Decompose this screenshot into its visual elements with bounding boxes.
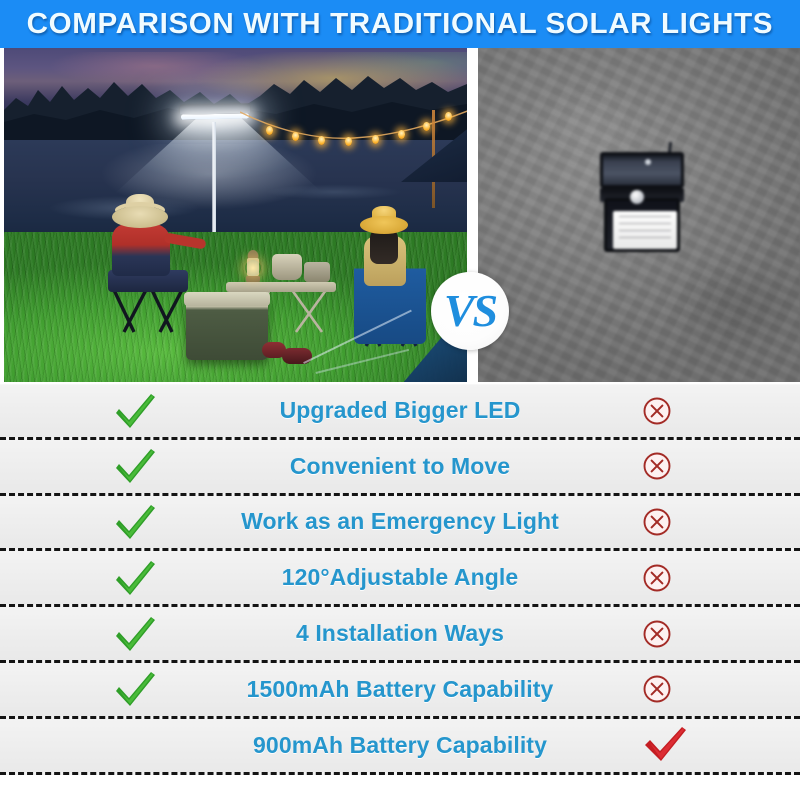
table-row: Upgraded Bigger LED bbox=[0, 384, 800, 440]
row-right-mark bbox=[618, 451, 800, 481]
feature-label: 4 Installation Ways bbox=[296, 620, 504, 646]
traditional-solar-wall-light bbox=[596, 142, 688, 254]
cross-circle-icon bbox=[642, 563, 672, 593]
row-feature: 4 Installation Ways bbox=[182, 620, 618, 647]
table-row: Convenient to Move bbox=[0, 440, 800, 496]
row-right-mark bbox=[618, 726, 800, 764]
table-row: 900mAh Battery Capability bbox=[0, 719, 800, 775]
string-light-bulb bbox=[292, 132, 299, 141]
cross-circle-icon bbox=[642, 507, 672, 537]
row-left-mark bbox=[0, 446, 182, 486]
row-feature: Work as an Emergency Light bbox=[182, 508, 618, 535]
camp-pot bbox=[304, 262, 330, 282]
feature-label: 120°Adjustable Angle bbox=[282, 564, 519, 590]
table-row: Work as an Emergency Light bbox=[0, 496, 800, 552]
wall-light-lens-panel bbox=[613, 211, 677, 249]
string-light-bulb bbox=[423, 122, 430, 131]
header-banner: COMPARISON WITH TRADITIONAL SOLAR LIGHTS bbox=[0, 0, 800, 48]
comparison-infographic: COMPARISON WITH TRADITIONAL SOLAR LIGHTS bbox=[0, 0, 800, 800]
row-right-mark bbox=[618, 563, 800, 593]
feature-label: 1500mAh Battery Capability bbox=[247, 676, 554, 702]
cross-circle-icon bbox=[642, 674, 672, 704]
row-right-mark bbox=[618, 619, 800, 649]
string-light-bulb bbox=[345, 137, 352, 146]
camp-table-top bbox=[226, 282, 336, 292]
lantern-glow bbox=[245, 260, 261, 276]
check-green-icon bbox=[112, 669, 158, 709]
table-bottom-spacer bbox=[0, 775, 800, 797]
page-title: COMPARISON WITH TRADITIONAL SOLAR LIGHTS bbox=[27, 8, 773, 41]
vs-badge: VS bbox=[431, 272, 509, 350]
check-green-icon bbox=[112, 614, 158, 654]
camping-chair-left-legs bbox=[108, 290, 188, 334]
feature-comparison-table: Upgraded Bigger LED Convenient to Move bbox=[0, 384, 800, 800]
wall-light-lens-lines bbox=[619, 216, 671, 244]
string-light-bulb bbox=[398, 130, 405, 139]
row-feature: Upgraded Bigger LED bbox=[182, 397, 618, 424]
photo-comparison-strip: VS bbox=[0, 48, 800, 382]
cooler-lid bbox=[184, 292, 270, 306]
row-left-mark bbox=[0, 669, 182, 709]
traditional-solar-wall-light-photo bbox=[478, 48, 800, 382]
person-right-hat-brim bbox=[360, 216, 408, 234]
row-right-mark bbox=[618, 674, 800, 704]
feature-label: Upgraded Bigger LED bbox=[280, 397, 521, 423]
row-right-mark bbox=[618, 507, 800, 537]
check-green-icon bbox=[112, 391, 158, 431]
wall-light-body bbox=[604, 198, 680, 252]
cross-circle-icon bbox=[642, 451, 672, 481]
row-feature: 120°Adjustable Angle bbox=[182, 564, 618, 591]
row-right-mark bbox=[618, 396, 800, 426]
wall-shadow-patch bbox=[668, 258, 798, 348]
cross-circle-icon bbox=[642, 619, 672, 649]
table-row: 120°Adjustable Angle bbox=[0, 551, 800, 607]
string-light-bulb bbox=[266, 126, 273, 135]
person-left-body bbox=[112, 224, 170, 276]
row-feature: Convenient to Move bbox=[182, 453, 618, 480]
check-green-icon bbox=[112, 558, 158, 598]
feature-label: Work as an Emergency Light bbox=[241, 508, 559, 534]
string-light-bulb bbox=[318, 136, 325, 145]
wall-light-solar-panel bbox=[600, 152, 684, 188]
string-light-bulb bbox=[372, 135, 379, 144]
wall-light-screw bbox=[645, 159, 651, 165]
check-green-icon bbox=[112, 446, 158, 486]
row-left-mark bbox=[0, 502, 182, 542]
cross-circle-icon bbox=[642, 396, 672, 426]
upgraded-solar-camping-light-photo bbox=[4, 48, 467, 382]
table-row: 1500mAh Battery Capability bbox=[0, 663, 800, 719]
person-left-hat-brim bbox=[112, 206, 168, 228]
table-row: 4 Installation Ways bbox=[0, 607, 800, 663]
row-feature: 1500mAh Battery Capability bbox=[182, 676, 618, 703]
row-left-mark bbox=[0, 558, 182, 598]
vs-badge-label: VS bbox=[444, 284, 496, 337]
camp-kettle bbox=[272, 254, 302, 280]
string-light-bulb bbox=[445, 112, 452, 121]
row-feature: 900mAh Battery Capability bbox=[182, 732, 618, 759]
wall-light-motion-sensor bbox=[630, 190, 644, 204]
row-left-mark bbox=[0, 391, 182, 431]
feature-label: 900mAh Battery Capability bbox=[253, 732, 547, 758]
check-red-icon bbox=[642, 726, 688, 764]
check-green-icon bbox=[112, 502, 158, 542]
row-left-mark bbox=[0, 614, 182, 654]
feature-label: Convenient to Move bbox=[290, 453, 510, 479]
